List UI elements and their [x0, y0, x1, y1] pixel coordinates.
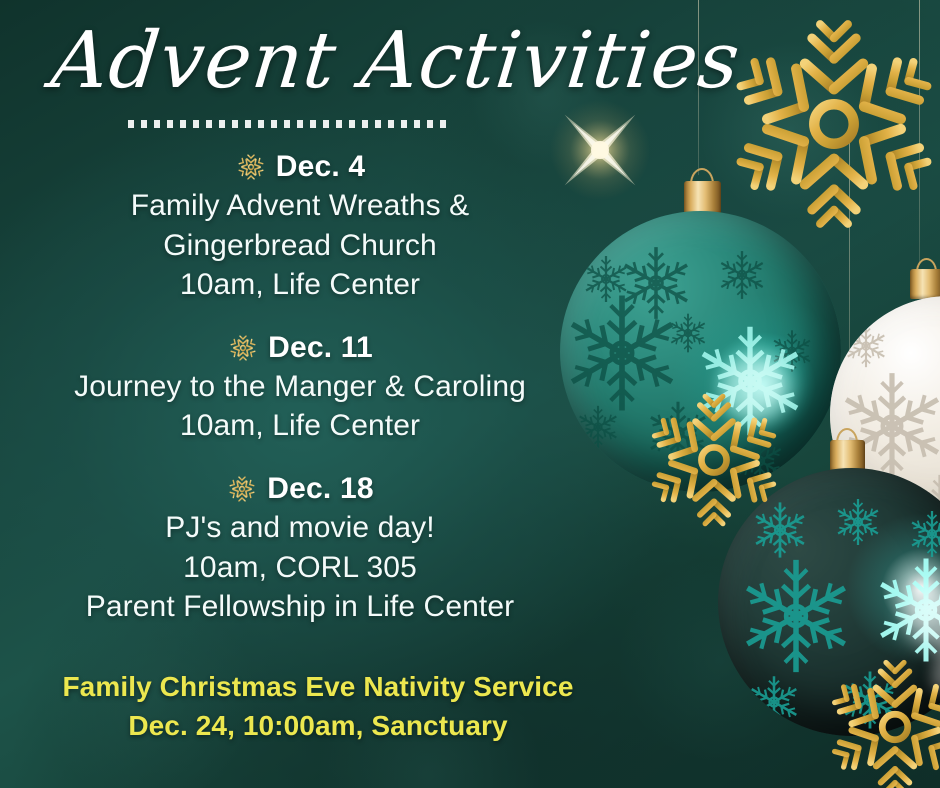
teal-ornament	[560, 168, 850, 488]
event-date: Dec. 4	[276, 150, 366, 184]
event-item: Dec. 4 Family Advent Wreaths & Gingerbre…	[0, 150, 600, 305]
snowflake-icon	[226, 473, 258, 505]
ornament-cap	[830, 440, 865, 472]
event-line: 10am, Life Center	[0, 406, 600, 446]
footer-highlight: Family Christmas Eve Nativity Service De…	[0, 668, 636, 745]
ornament-snowflake-pattern	[718, 468, 940, 736]
snowflake-icon	[227, 332, 259, 364]
page-title: Advent Activities	[48, 22, 744, 100]
snowflake-icon	[235, 151, 267, 183]
event-item: Dec. 18 PJ's and movie day! 10am, CORL 3…	[0, 472, 600, 627]
event-line: PJ's and movie day!	[0, 508, 600, 548]
event-item: Dec. 11 Journey to the Manger & Caroling…	[0, 331, 600, 446]
ornament-ball	[718, 468, 940, 736]
event-header: Dec. 4	[0, 150, 600, 184]
gold-snowflake-mid-left	[640, 386, 788, 534]
advent-activities-poster: Advent Activities	[0, 0, 940, 788]
event-line: Parent Fellowship in Life Center	[0, 587, 600, 627]
cream-ornament	[830, 258, 940, 548]
ornament-string	[919, 0, 920, 262]
events-list: Dec. 4 Family Advent Wreaths & Gingerbre…	[0, 150, 600, 653]
ornament-cap	[684, 181, 721, 215]
event-line: Journey to the Manger & Caroling	[0, 367, 600, 407]
ornament-snowflake-pattern	[830, 296, 940, 534]
ornament-loop	[916, 258, 937, 272]
footer-line-1: Family Christmas Eve Nativity Service	[0, 668, 636, 707]
footer-line-2: Dec. 24, 10:00am, Sanctuary	[0, 707, 636, 746]
event-line: 10am, CORL 305	[0, 548, 600, 588]
event-line: 10am, Life Center	[0, 265, 600, 305]
event-line: Gingerbread Church	[0, 226, 600, 266]
event-header: Dec. 11	[0, 331, 600, 365]
ornament-ball	[830, 296, 940, 534]
ornament-string	[849, 112, 850, 432]
gold-snowflake-top-right	[718, 8, 940, 240]
bokeh-blob	[620, 560, 820, 760]
ornament-loop	[836, 428, 858, 443]
event-date: Dec. 18	[267, 472, 373, 506]
dotted-divider	[128, 120, 450, 128]
ornament-ball	[560, 211, 841, 492]
ornament-snowflake-pattern	[560, 211, 841, 492]
event-date: Dec. 11	[268, 331, 373, 365]
ornament-loop	[690, 168, 714, 184]
event-line: Family Advent Wreaths &	[0, 186, 600, 226]
ornament-cap	[910, 269, 940, 299]
event-header: Dec. 18	[0, 472, 600, 506]
gold-snowflake-bottom-right	[820, 652, 940, 788]
dark-ornament	[718, 428, 940, 768]
